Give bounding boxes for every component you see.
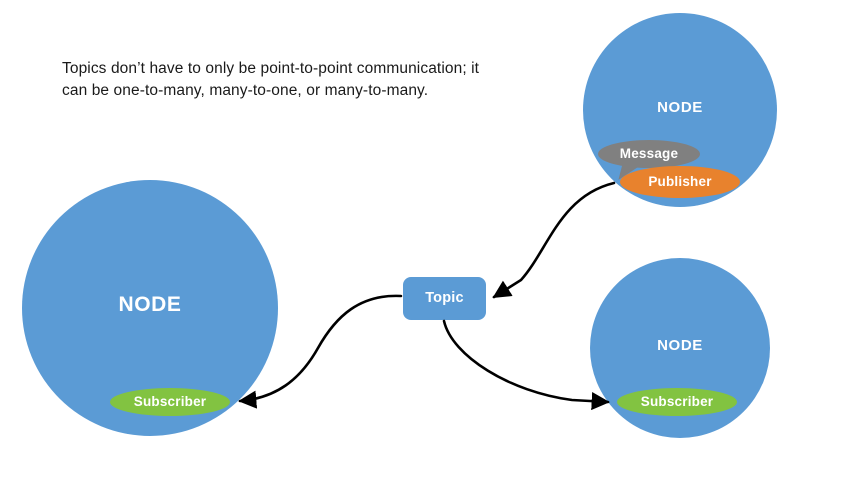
publisher-ellipse[interactable] <box>620 166 740 198</box>
connection-topic-to-subscriber-bottom-right[interactable] <box>444 321 608 402</box>
connection-publisher-to-topic[interactable] <box>494 183 614 297</box>
topic-group[interactable] <box>403 277 486 320</box>
subscriber-left-ellipse[interactable] <box>110 388 230 416</box>
nodes-group <box>22 13 777 438</box>
diagram-canvas: Topics don’t have to only be point-to-po… <box>0 0 854 480</box>
subscriber-bottom-right-ellipse[interactable] <box>617 388 737 416</box>
diagram-vector-layer <box>0 0 854 480</box>
topic-box[interactable] <box>403 277 486 320</box>
message-bubble-ellipse[interactable] <box>598 140 700 168</box>
